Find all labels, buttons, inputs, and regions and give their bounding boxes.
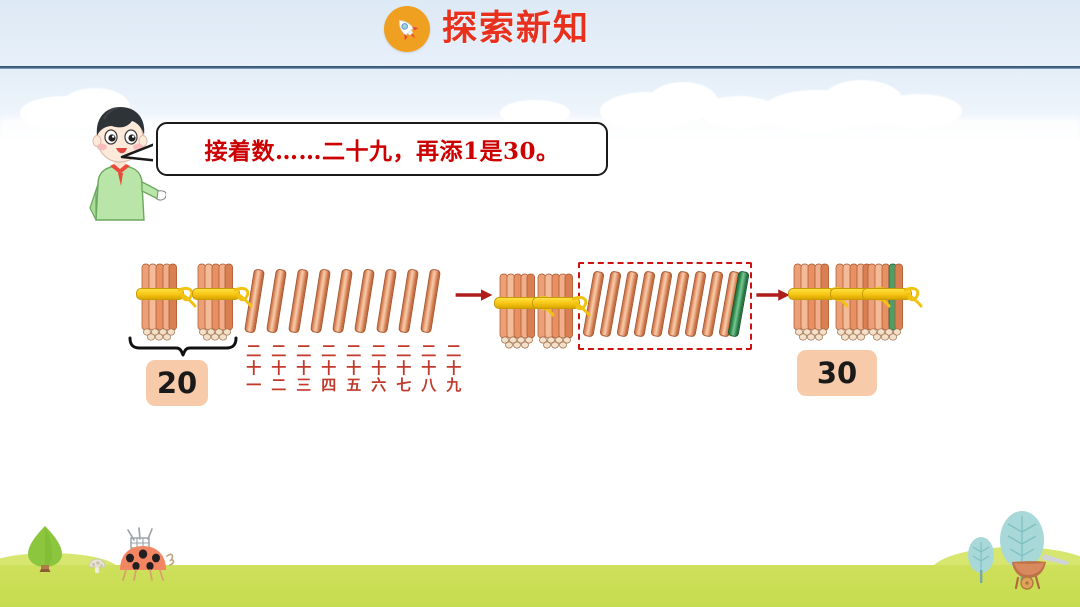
bundle-knot-g4-c [904, 282, 926, 308]
bundle-knot-g1-b [234, 282, 256, 308]
bundle-knot-g3-b [572, 291, 594, 317]
label-twenty-text: 20 [157, 366, 197, 400]
arrow-two-icon [753, 288, 793, 302]
count-label-5-text: 二十五 [344, 343, 363, 394]
wheelbarrow [1008, 550, 1074, 592]
count-label-8-text: 二十八 [419, 343, 438, 394]
label-thirty-text: 30 [817, 356, 857, 390]
count-label-3-text: 二十三 [294, 343, 313, 394]
count-label-4: 二十四 [318, 343, 338, 394]
count-label-1: 二十一 [243, 343, 263, 394]
bundle-g1-a [138, 262, 180, 342]
count-label-4-text: 二十四 [319, 343, 338, 394]
tree-green-left [22, 524, 68, 572]
loose-stick-7 [376, 269, 397, 334]
count-label-9-text: 二十九 [444, 343, 463, 394]
ladybug [112, 526, 176, 582]
count-label-5: 二十五 [343, 343, 363, 394]
count-label-6: 二十六 [368, 343, 388, 394]
loose-stick-3 [288, 269, 309, 334]
loose-stick-9 [420, 269, 441, 334]
count-label-6-text: 二十六 [369, 343, 388, 394]
count-label-2-text: 二十二 [269, 343, 288, 394]
count-label-1-text: 二十一 [244, 343, 263, 394]
count-label-3: 二十三 [293, 343, 313, 394]
label-thirty-box: 30 [797, 350, 877, 396]
loose-stick-4 [310, 269, 331, 334]
bundle-tie-g4-a [788, 288, 836, 300]
bundle-tie-g1-a [136, 288, 184, 300]
loose-stick-8 [398, 269, 419, 334]
count-label-2: 二十二 [268, 343, 288, 394]
slide-canvas: 探索新知 [0, 0, 1080, 607]
count-label-7: 二十七 [393, 343, 413, 394]
label-twenty-box: 20 [146, 360, 208, 406]
bundle-g4-a [790, 262, 832, 342]
bundle-g3-a [496, 272, 538, 350]
loose-stick-5 [332, 269, 353, 334]
loose-stick-6 [354, 269, 375, 334]
sticks-workspace: 20 二十一 二十二 二十三 二十四 二十五 二十六 二十七 [0, 0, 1080, 607]
count-label-7-text: 二十七 [394, 343, 413, 394]
count-label-9: 二十九 [443, 343, 463, 394]
loose-stick-2 [266, 269, 287, 334]
count-label-8: 二十八 [418, 343, 438, 394]
mushroom [88, 558, 106, 574]
bundle-tie-g1-b [192, 288, 240, 300]
bundle-g1-b [194, 262, 236, 342]
arrow-one-icon [452, 288, 496, 302]
brace-group-twenty [128, 336, 238, 358]
